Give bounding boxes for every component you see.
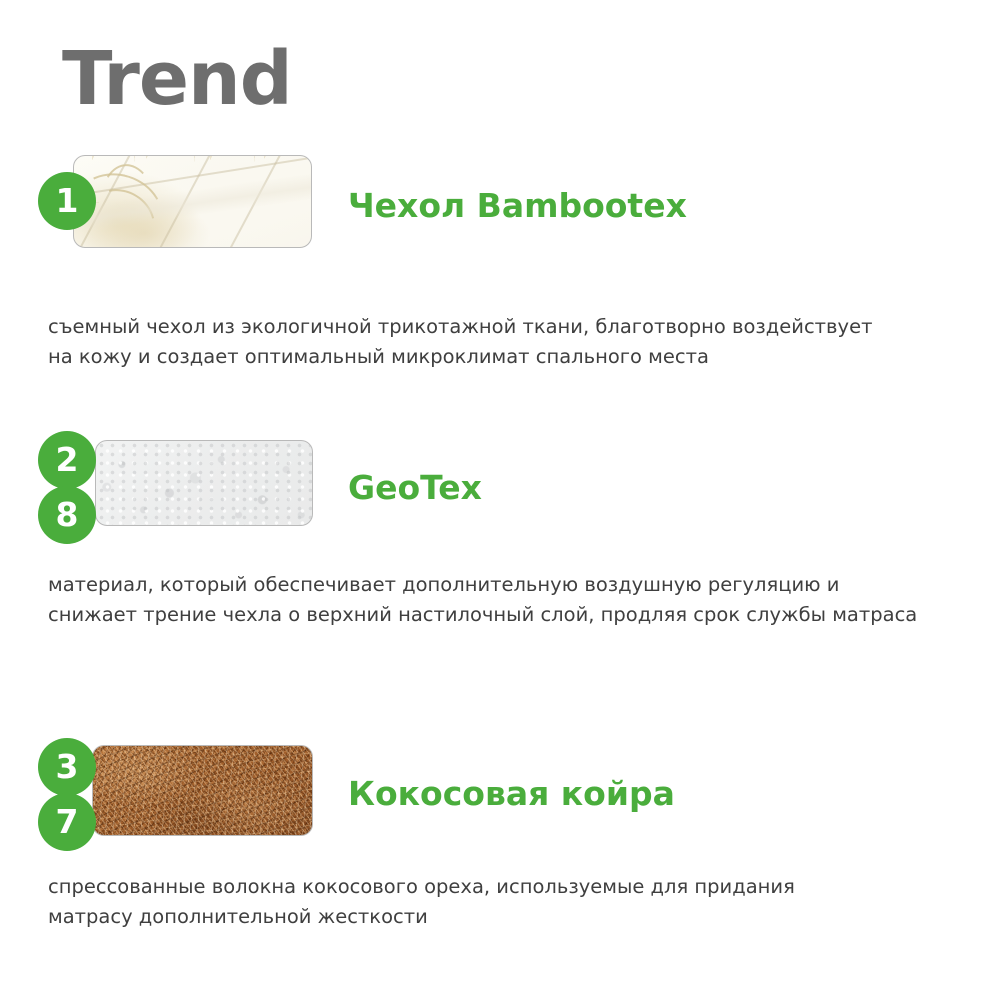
geotex-felt-swatch <box>95 440 313 526</box>
layer-heading-coir: Кокосовая койра <box>348 777 675 810</box>
description-line: матрасу дополнительной жесткости <box>48 902 795 932</box>
layer-number-badge-2: 2 <box>38 431 96 489</box>
layer-block-geotex: 2 8 GeoTex материал, который обеспечивае… <box>0 440 1000 536</box>
infographic-page: Trend 1 Чехол Bambootex съемный чехол из… <box>0 0 1000 1000</box>
layer-description-coir: спрессованные волокна кокосового ореха, … <box>48 872 795 932</box>
layer-description-bambootex: съемный чехол из экологичной трикотажной… <box>48 312 872 372</box>
felt-fleck-texture <box>96 441 312 525</box>
layer-block-coir: 3 7 Кокосовая койра спрессованные волокн… <box>0 745 1000 841</box>
layer-row: 3 7 Кокосовая койра <box>0 745 1000 841</box>
layer-number-badge-label: 3 <box>56 750 79 783</box>
description-line: на кожу и создает оптимальный микроклима… <box>48 342 872 372</box>
page-title: Trend <box>62 42 292 116</box>
layer-number-badge-label: 8 <box>56 498 79 531</box>
layer-heading-geotex: GeoTex <box>348 471 482 504</box>
layer-number-badge-label: 1 <box>56 184 79 217</box>
fabric-sheen <box>74 156 311 247</box>
layer-number-badge-8: 8 <box>38 486 96 544</box>
layer-number-badge-label: 2 <box>56 443 79 476</box>
layer-block-bambootex: 1 Чехол Bambootex съемный чехол из эколо… <box>0 155 1000 251</box>
coir-fiber-texture <box>93 746 312 835</box>
description-line: спрессованные волокна кокосового ореха, … <box>48 872 795 902</box>
layer-description-geotex: материал, который обеспечивает дополните… <box>48 570 917 630</box>
layer-heading-bambootex: Чехол Bambootex <box>348 189 687 222</box>
layer-number-badge-3: 3 <box>38 738 96 796</box>
layer-number-badge-label: 7 <box>56 805 79 838</box>
layer-row: 1 Чехол Bambootex <box>0 155 1000 251</box>
layer-number-badge-7: 7 <box>38 793 96 851</box>
bambootex-quilted-fabric-swatch <box>73 155 312 248</box>
layer-number-badge-1: 1 <box>38 172 96 230</box>
description-line: материал, который обеспечивает дополните… <box>48 570 917 600</box>
description-line: съемный чехол из экологичной трикотажной… <box>48 312 872 342</box>
layer-row: 2 8 GeoTex <box>0 440 1000 536</box>
description-line: снижает трение чехла о верхний настилочн… <box>48 600 917 630</box>
coconut-coir-swatch <box>92 745 313 836</box>
